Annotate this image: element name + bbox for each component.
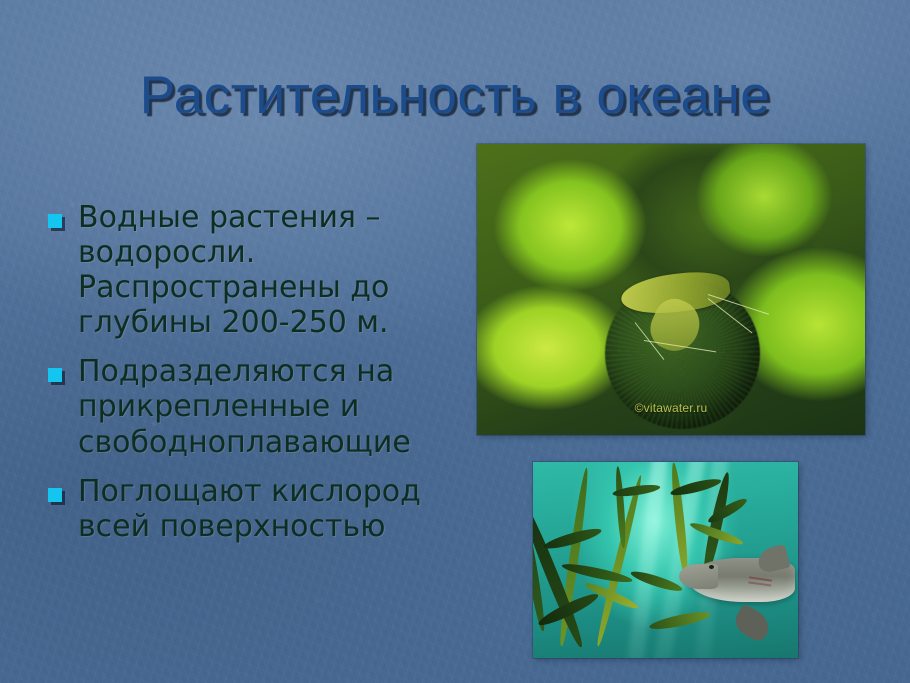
square-bullet-icon (48, 368, 62, 382)
shrimp-antenna-shape (707, 298, 752, 333)
bullet-text: Водные растения – водоросли. Распростран… (78, 200, 468, 340)
aquarium-moss-shrimp-photo: ©vitawater.ru (477, 144, 865, 435)
photo-watermark: ©vitawater.ru (477, 401, 865, 415)
list-item: Водные растения – водоросли. Распростран… (48, 200, 468, 340)
slide-title: Растительность в океане (0, 68, 910, 124)
shark-shape (679, 548, 796, 619)
shrimp-shape (613, 260, 753, 371)
list-item: Поглощают кислород всей поверхностью (48, 474, 468, 544)
presentation-slide: Растительность в океане Водные растения … (0, 0, 910, 683)
square-bullet-icon (48, 488, 62, 502)
kelp-forest-shark-photo (533, 462, 798, 658)
bullet-list: Водные растения – водоросли. Распростран… (48, 200, 468, 558)
square-bullet-icon (48, 214, 62, 228)
list-item: Подразделяются на прикрепленные и свобод… (48, 354, 468, 459)
bullet-text: Подразделяются на прикрепленные и свобод… (78, 354, 468, 459)
bullet-text: Поглощают кислород всей поверхностью (78, 474, 468, 544)
shark-pectoral-fin-shape (731, 604, 774, 644)
